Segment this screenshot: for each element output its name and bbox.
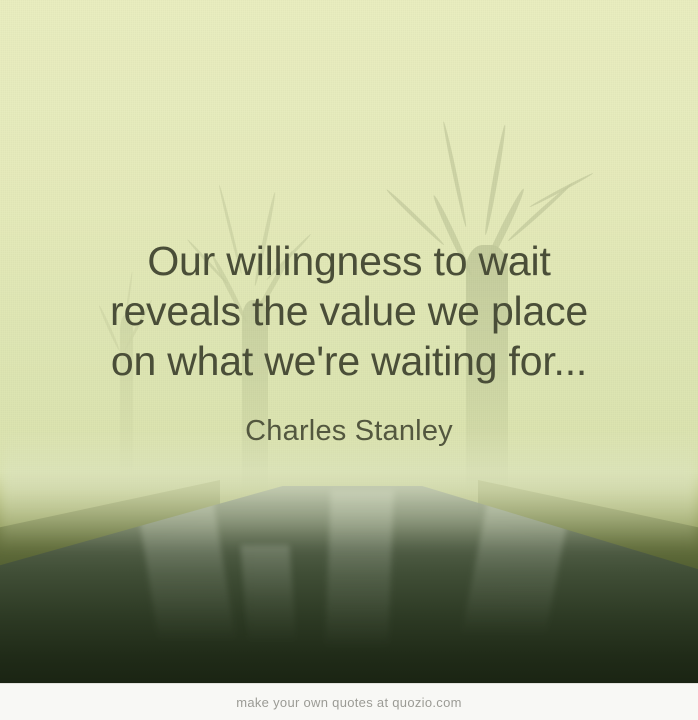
quote-author: Charles Stanley — [0, 413, 698, 449]
quote-text-block: Our willingness to wait reveals the valu… — [0, 236, 698, 449]
road-wheel-rut — [241, 545, 297, 644]
footer-credit-text[interactable]: make your own quotes at quozio.com — [236, 695, 462, 710]
quote-line-1: Our willingness to wait — [0, 236, 698, 286]
quote-line-2: reveals the value we place — [0, 286, 698, 336]
quote-line-3: on what we're waiting for... — [0, 336, 698, 386]
quote-image-card: Our willingness to wait reveals the valu… — [0, 0, 698, 720]
footer-bar: make your own quotes at quozio.com — [0, 683, 698, 720]
